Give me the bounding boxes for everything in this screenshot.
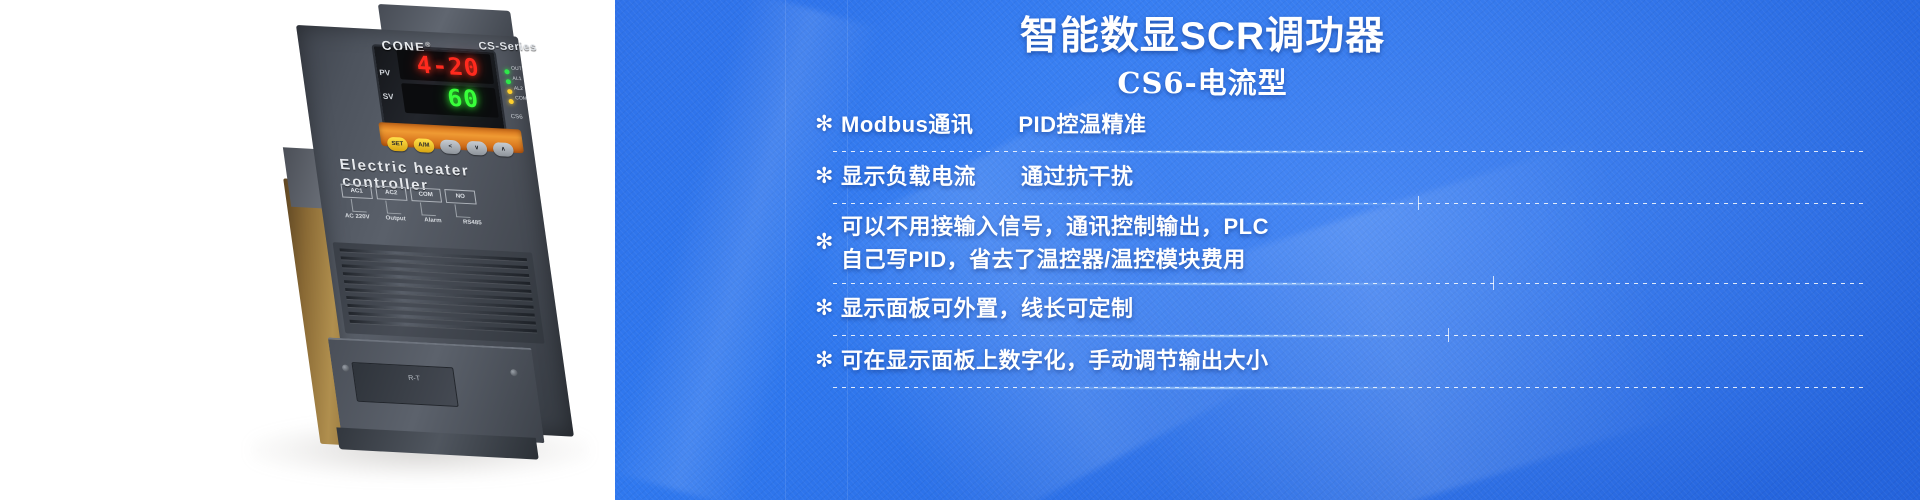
- terminal-no: NO: [444, 189, 476, 204]
- terminal-sub-ac220v: AC 220V: [345, 213, 371, 220]
- al1-led-label: AL1: [512, 76, 522, 82]
- com-led-label: COM: [515, 95, 528, 102]
- out-led-label: OUT: [511, 66, 523, 73]
- terminal-diagram: AC1 AC2 COM NO AC 220V Output Alarm RS48…: [340, 184, 514, 244]
- product-photo-panel: CONE® CS-Series PV SV 4-20 60 SET A/M < …: [0, 0, 615, 500]
- feature-text-2: 显示负载电流 通过抗干扰: [841, 162, 1134, 192]
- drawer-slot: [351, 362, 458, 407]
- headings-block: 智能数显SCR调功器 CS6-电流型: [615, 14, 1920, 100]
- feature-text-3: 可以不用接输入信号，通讯控制输出，PLC 自己写PID，省去了温控器/温控模块费…: [841, 210, 1269, 276]
- feature-item-2: ✻ 显示负载电流 通过抗干扰: [815, 156, 1855, 200]
- al2-led-label: AL2: [514, 86, 524, 92]
- feature-item-1: ✻ Modbus通讯 PID控温精准: [815, 104, 1855, 148]
- asterisk-bullet-icon: ✻: [815, 114, 841, 136]
- feature-text-4: 显示面板可外置，线长可定制: [841, 294, 1134, 324]
- registered-mark: ®: [425, 42, 433, 49]
- feature-item-5: ✻ 可在显示面板上数字化，手动调节输出大小: [815, 340, 1855, 384]
- al1-led: [506, 79, 512, 84]
- feature-text-1: Modbus通讯 PID控温精准: [841, 110, 1147, 140]
- out-led: [504, 69, 510, 74]
- terminal-ac2: AC2: [375, 185, 407, 200]
- marketing-panel: 智能数显SCR调功器 CS6-电流型 ✻ Modbus通讯 PID控温精准 ✻ …: [615, 0, 1920, 500]
- pv-label: PV: [379, 68, 391, 77]
- al2-led: [507, 89, 513, 94]
- feature-divider-4: [833, 335, 1863, 336]
- feature-divider-2: [833, 203, 1863, 204]
- feature-item-4: ✻ 显示面板可外置，线长可定制: [815, 288, 1855, 332]
- asterisk-bullet-icon: ✻: [815, 166, 841, 188]
- model-tag: CS6: [510, 114, 523, 121]
- series-tag: CS-Series: [478, 40, 538, 53]
- terminal-sub-alarm: Alarm: [424, 217, 442, 224]
- com-led: [508, 99, 514, 104]
- feature-divider-1: [833, 151, 1863, 152]
- sv-label: SV: [382, 92, 394, 101]
- feature-item-3: ✻ 可以不用接输入信号，通讯控制输出，PLC 自己写PID，省去了温控器/温控模…: [815, 208, 1855, 280]
- product-banner: CONE® CS-Series PV SV 4-20 60 SET A/M < …: [0, 0, 1920, 500]
- asterisk-bullet-icon: ✻: [815, 232, 841, 254]
- asterisk-bullet-icon: ✻: [815, 350, 841, 372]
- terminal-ac1: AC1: [340, 184, 372, 199]
- page-subtitle: CS6-电流型: [615, 66, 1920, 100]
- terminal-sub-rs485: RS485: [463, 219, 483, 226]
- terminal-com: COM: [410, 187, 442, 202]
- terminal-sub-output: Output: [385, 215, 406, 222]
- feature-list: ✻ Modbus通讯 PID控温精准 ✻ 显示负载电流 通过抗干扰 ✻ 可以不用…: [815, 104, 1855, 392]
- pv-display-value: 4-20: [415, 51, 482, 82]
- feature-text-5: 可在显示面板上数字化，手动调节输出大小: [841, 346, 1269, 376]
- feature-divider-3: [833, 283, 1863, 284]
- heatsink-vents: [333, 242, 545, 344]
- drawer-label: R-T: [408, 375, 421, 383]
- sv-display-value: 60: [446, 84, 481, 113]
- page-title: 智能数显SCR调功器: [615, 14, 1920, 60]
- asterisk-bullet-icon: ✻: [815, 298, 841, 320]
- feature-divider-5: [833, 387, 1863, 388]
